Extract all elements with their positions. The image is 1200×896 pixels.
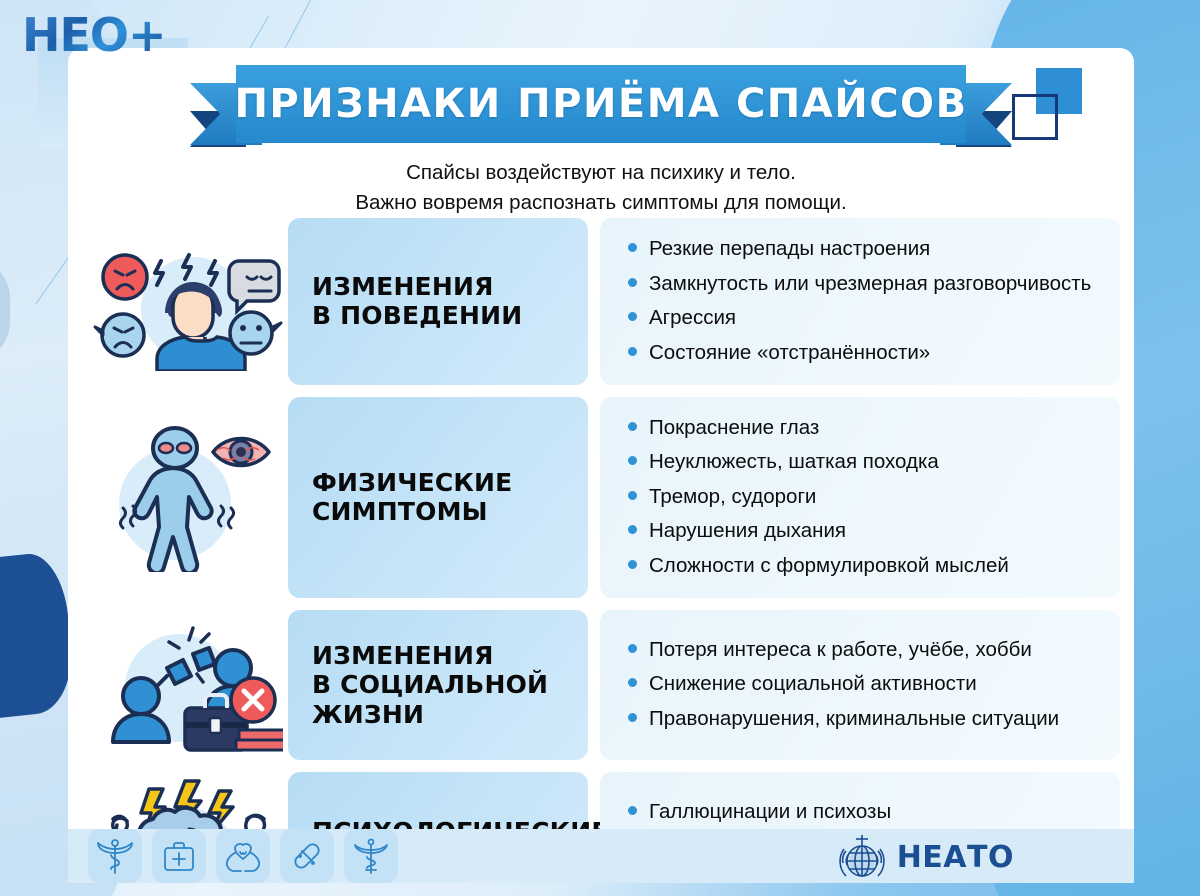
broken-social-link-icon	[88, 610, 288, 760]
bullet-dot-icon	[628, 243, 637, 252]
bullet-dot-icon	[628, 278, 637, 287]
bullet-dot-icon	[628, 456, 637, 465]
title-ribbon: ПРИЗНАКИ ПРИЁМА СПАЙСОВ	[68, 65, 1134, 163]
list-item: Правонарушения, криминальные ситуации	[628, 706, 1100, 733]
bullet-dot-icon	[628, 312, 637, 321]
bullet-dot-icon	[628, 678, 637, 687]
neo-plus-logo: НЕО+	[22, 8, 166, 62]
bullet-dot-icon	[628, 491, 637, 500]
list-item-text: Резкие перепады настроения	[649, 236, 930, 263]
bullet-dot-icon	[628, 644, 637, 653]
category-label: ФИЗИЧЕСКИЕ СИМПТОМЫ	[312, 468, 512, 527]
list-item-text: Тремор, судороги	[649, 484, 816, 511]
list-item: Нарушения дыхания	[628, 518, 1100, 545]
first-aid-kit-icon	[152, 829, 206, 883]
bullet-dot-icon	[628, 525, 637, 534]
subtitle-line-1: Спайсы воздействуют на психику и тело.	[68, 158, 1134, 188]
category-label-panel: ИЗМЕНЕНИЯ В ПОВЕДЕНИИ	[288, 218, 588, 385]
list-item-text: Покраснение глаз	[649, 415, 819, 442]
list-item: Резкие перепады настроения	[628, 236, 1100, 263]
list-item-text: Замкнутость или чрезмерная разговорчивос…	[649, 271, 1091, 298]
list-item-text: Состояние «отстранённости»	[649, 340, 930, 367]
list-item-text: Сложности с формулировкой мыслей	[649, 553, 1009, 580]
list-item-text: Нарушения дыхания	[649, 518, 846, 545]
mood-swings-icon	[88, 226, 288, 376]
list-item: Потеря интереса к работе, учёбе, хобби	[628, 637, 1100, 664]
who-organization-logo: НЕАТО	[835, 831, 1014, 883]
bullet-dot-icon	[628, 422, 637, 431]
page-title: ПРИЗНАКИ ПРИЁМА СПАЙСОВ	[234, 81, 967, 127]
pill-capsule-icon	[280, 829, 334, 883]
bullet-dot-icon	[628, 713, 637, 722]
list-item: Покраснение глаз	[628, 415, 1100, 442]
symptom-list-panel: Резкие перепады настроения Замкнутость и…	[600, 218, 1120, 385]
symptom-row: ИЗМЕНЕНИЯ В СОЦИАЛЬНОЙ ЖИЗНИ Потеря инте…	[88, 610, 1120, 760]
list-item: Состояние «отстранённости»	[628, 340, 1100, 367]
list-item: Замкнутость или чрезмерная разговорчивос…	[628, 271, 1100, 298]
list-item: Неуклюжесть, шаткая походка	[628, 449, 1100, 476]
bullet-dot-icon	[628, 347, 637, 356]
heart-in-hands-icon	[216, 829, 270, 883]
symptom-list-panel: Покраснение глаз Неуклюжесть, шаткая пох…	[600, 397, 1120, 598]
list-item-text: Снижение социальной активности	[649, 671, 977, 698]
subtitle-line-2: Важно вовремя распознать симптомы для по…	[68, 188, 1134, 218]
symptom-rows: ИЗМЕНЕНИЯ В ПОВЕДЕНИИ Резкие перепады на…	[88, 218, 1120, 883]
symptom-list-panel: Потеря интереса к работе, учёбе, хобби С…	[600, 610, 1120, 760]
list-item-text: Агрессия	[649, 305, 736, 332]
list-item: Сложности с формулировкой мыслей	[628, 553, 1100, 580]
symptom-row: ИЗМЕНЕНИЯ В ПОВЕДЕНИИ Резкие перепады на…	[88, 218, 1120, 385]
category-label: ИЗМЕНЕНИЯ В СОЦИАЛЬНОЙ ЖИЗНИ	[312, 641, 548, 730]
list-item-text: Неуклюжесть, шаткая походка	[649, 449, 939, 476]
list-item-text: Правонарушения, криминальные ситуации	[649, 706, 1059, 733]
list-item: Галлюцинации и психозы	[628, 799, 1100, 826]
footer-logo-text: НЕАТО	[897, 840, 1014, 875]
bullet-dot-icon	[628, 560, 637, 569]
footer-bar: НЕАТО	[68, 829, 1134, 883]
who-globe-laurel-emblem	[835, 831, 889, 883]
caduceus-wings-icon	[344, 829, 398, 883]
category-label-panel: ИЗМЕНЕНИЯ В СОЦИАЛЬНОЙ ЖИЗНИ	[288, 610, 588, 760]
ribbon-body: ПРИЗНАКИ ПРИЁМА СПАЙСОВ	[236, 65, 966, 143]
symptom-row: ФИЗИЧЕСКИЕ СИМПТОМЫ Покраснение глаз Неу…	[88, 397, 1120, 598]
category-label: ИЗМЕНЕНИЯ В ПОВЕДЕНИИ	[312, 272, 522, 331]
category-label-panel: ФИЗИЧЕСКИЕ СИМПТОМЫ	[288, 397, 588, 598]
list-item: Агрессия	[628, 305, 1100, 332]
caduceus-icon	[88, 829, 142, 883]
trembling-body-red-eye-icon	[88, 421, 288, 573]
subtitle: Спайсы воздействуют на психику и тело. В…	[68, 158, 1134, 217]
footer-icon-strip	[68, 829, 398, 883]
list-item: Тремор, судороги	[628, 484, 1100, 511]
list-item: Снижение социальной активности	[628, 671, 1100, 698]
list-item-text: Галлюцинации и психозы	[649, 799, 891, 826]
list-item-text: Потеря интереса к работе, учёбе, хобби	[649, 637, 1032, 664]
poster-card: ПРИЗНАКИ ПРИЁМА СПАЙСОВ Спайсы воздейств…	[68, 48, 1134, 883]
bullet-dot-icon	[628, 806, 637, 815]
